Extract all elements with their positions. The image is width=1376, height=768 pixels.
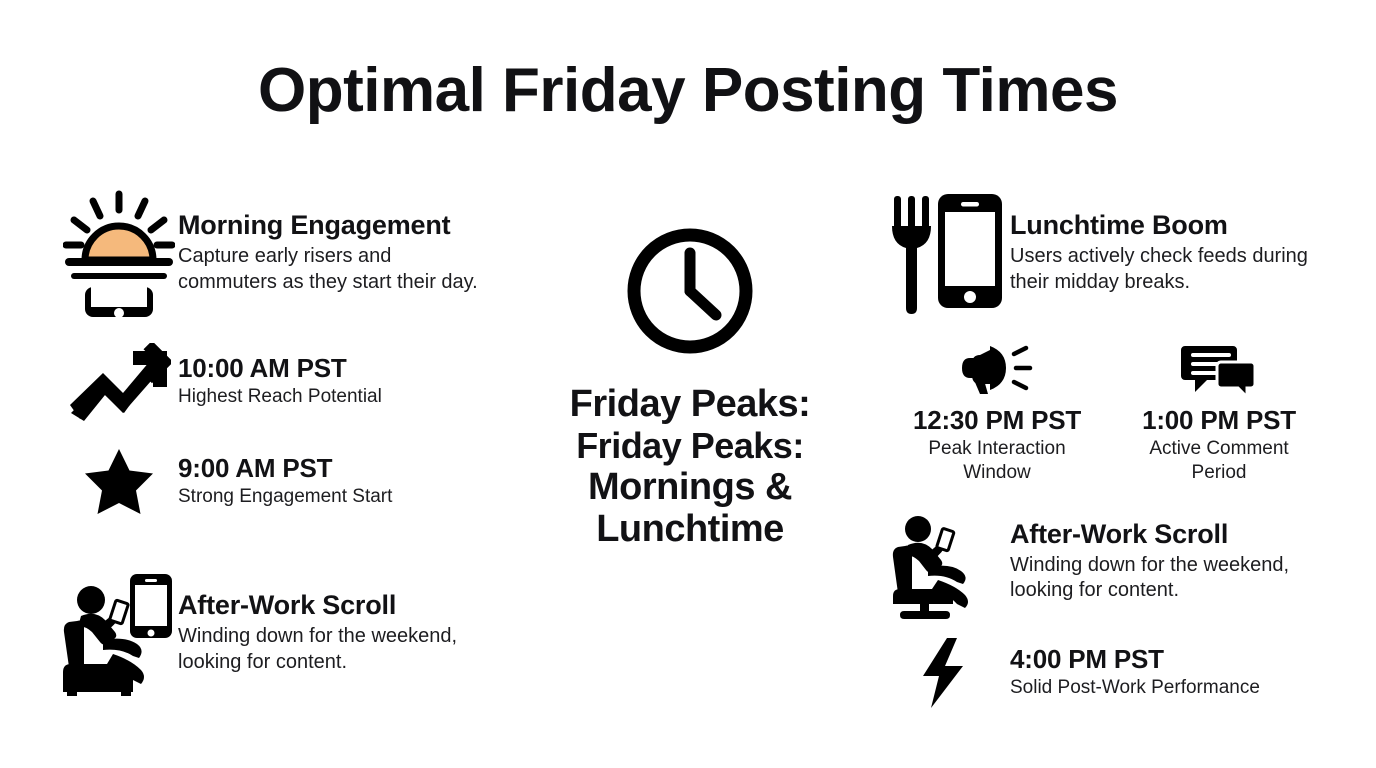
- megaphone-icon: [958, 344, 1036, 396]
- section-heading: Lunchtime Boom: [1010, 210, 1320, 240]
- stat-400pm: 4:00 PM PST Solid Post-Work Performance: [880, 635, 1320, 711]
- page-title: Optimal Friday Posting Times: [0, 58, 1376, 123]
- lunchtime-boom-text: Lunchtime Boom Users actively check feed…: [1010, 188, 1320, 295]
- center-line-4: Lunchtime: [540, 508, 840, 551]
- clock-icon-wrap: [540, 225, 840, 357]
- stat-time: 10:00 AM PST: [178, 354, 540, 383]
- stat-time: 12:30 PM PST: [902, 406, 1092, 435]
- stat-description: Highest Reach Potential: [178, 385, 540, 409]
- section-heading: After-Work Scroll: [178, 590, 540, 620]
- stat-10am: 10:00 AM PST Highest Reach Potential: [60, 342, 540, 422]
- stat-10am-text: 10:00 AM PST Highest Reach Potential: [178, 342, 540, 409]
- center-headline: Friday Peaks: Friday Peaks: Mornings & L…: [540, 383, 840, 551]
- section-description: Winding down for the weekend, looking fo…: [178, 624, 498, 675]
- person-office-chair-phone-icon: [880, 511, 1010, 621]
- fork-phone-icon: [880, 188, 1010, 316]
- center-column: Friday Peaks: Friday Peaks: Mornings & L…: [540, 225, 840, 551]
- stat-100pm: 1:00 PM PST Active Comment Period: [1124, 338, 1314, 485]
- speech-bubbles-icon-wrap: [1124, 338, 1314, 396]
- center-line-2: Friday Peaks:: [540, 426, 840, 466]
- after-work-scroll-left-text: After-Work Scroll Winding down for the w…: [178, 568, 540, 675]
- morning-engagement-text: Morning Engagement Capture early risers …: [178, 188, 540, 295]
- stat-description: Strong Engagement Start: [178, 485, 540, 509]
- stat-description: Peak Interaction Window: [902, 437, 1092, 485]
- stat-time: 4:00 PM PST: [1010, 645, 1320, 674]
- stat-1230pm: 12:30 PM PST Peak Interaction Window: [902, 338, 1092, 485]
- section-lunchtime-boom: Lunchtime Boom Users actively check feed…: [880, 188, 1320, 316]
- center-line-1: Friday Peaks:: [540, 383, 840, 426]
- megaphone-icon-wrap: [902, 338, 1092, 396]
- speech-bubbles-icon: [1181, 344, 1257, 396]
- trending-up-arrow-icon: [60, 342, 178, 422]
- right-column: Lunchtime Boom Users actively check feed…: [880, 188, 1320, 711]
- stat-9am-text: 9:00 AM PST Strong Engagement Start: [178, 446, 540, 509]
- infographic-canvas: Optimal Friday Posting Times: [0, 0, 1376, 768]
- stat-description: Solid Post-Work Performance: [1010, 676, 1320, 700]
- center-line-3: Mornings &: [540, 466, 840, 509]
- stat-time: 9:00 AM PST: [178, 454, 540, 483]
- lightning-bolt-icon: [880, 635, 1010, 711]
- left-column: Morning Engagement Capture early risers …: [60, 188, 540, 698]
- star-icon: [60, 446, 178, 516]
- section-description: Winding down for the weekend, looking fo…: [1010, 553, 1320, 604]
- section-description: Capture early risers and commuters as th…: [178, 244, 483, 295]
- stat-time: 1:00 PM PST: [1124, 406, 1314, 435]
- sunrise-phone-icon: [60, 188, 178, 318]
- section-heading: Morning Engagement: [178, 210, 540, 240]
- section-morning-engagement: Morning Engagement Capture early risers …: [60, 188, 540, 318]
- stat-description: Active Comment Period: [1124, 437, 1314, 485]
- stat-9am: 9:00 AM PST Strong Engagement Start: [60, 446, 540, 516]
- after-work-scroll-right-text: After-Work Scroll Winding down for the w…: [1010, 511, 1320, 604]
- section-description: Users actively check feeds during their …: [1010, 244, 1310, 295]
- section-heading: After-Work Scroll: [1010, 519, 1320, 549]
- clock-icon: [624, 225, 756, 357]
- right-stat-pair: 12:30 PM PST Peak Interaction Window: [880, 338, 1320, 485]
- section-after-work-scroll-right: After-Work Scroll Winding down for the w…: [880, 511, 1320, 621]
- person-armchair-phone-icon: [60, 568, 178, 698]
- section-after-work-scroll-left: After-Work Scroll Winding down for the w…: [60, 568, 540, 698]
- stat-400pm-text: 4:00 PM PST Solid Post-Work Performance: [1010, 635, 1320, 700]
